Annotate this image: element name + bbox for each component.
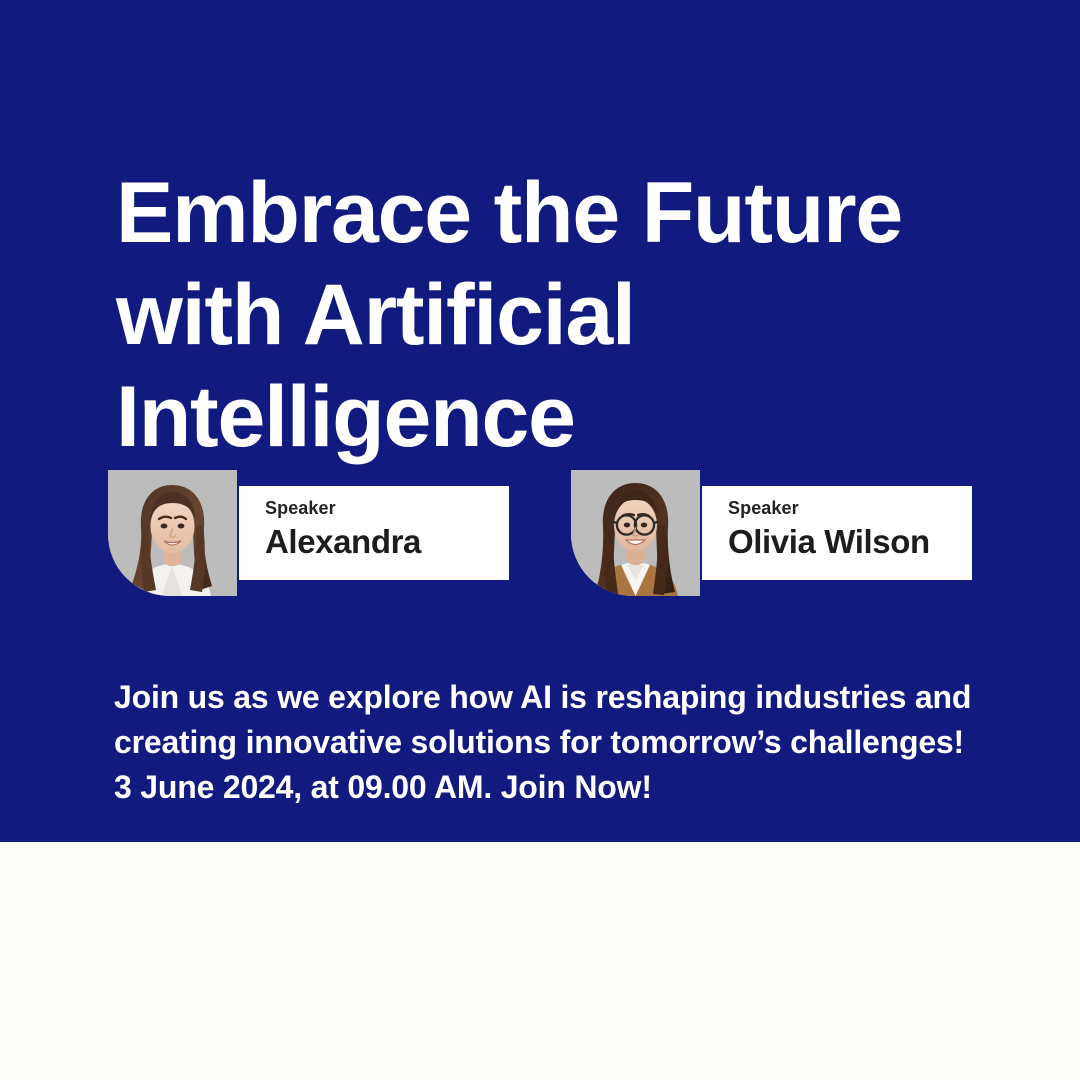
speaker-name: Olivia Wilson xyxy=(728,525,972,560)
page-title: Embrace the Future with Artificial Intel… xyxy=(116,162,1016,469)
speaker-name-plate: Speaker Alexandra xyxy=(239,486,509,580)
speaker-photo-olivia-wilson xyxy=(571,470,700,596)
speaker-list: Speaker Alexandra xyxy=(0,470,1080,600)
event-description: Join us as we explore how AI is reshapin… xyxy=(114,675,984,810)
hero-panel: Embrace the Future with Artificial Intel… xyxy=(0,0,1080,842)
speaker-role-label: Speaker xyxy=(265,499,509,517)
speaker-role-label: Speaker xyxy=(728,499,972,517)
speaker-card-olivia-wilson[interactable]: Speaker Olivia Wilson xyxy=(571,470,972,596)
speaker-name-plate: Speaker Olivia Wilson xyxy=(702,486,972,580)
speaker-photo-alexandra xyxy=(108,470,237,596)
event-poster: Embrace the Future with Artificial Intel… xyxy=(0,0,1080,1080)
footer-bar: Capcut Free Registration! Follow our soc… xyxy=(0,842,1080,1080)
speaker-name: Alexandra xyxy=(265,525,509,560)
speaker-card-alexandra[interactable]: Speaker Alexandra xyxy=(108,470,509,596)
